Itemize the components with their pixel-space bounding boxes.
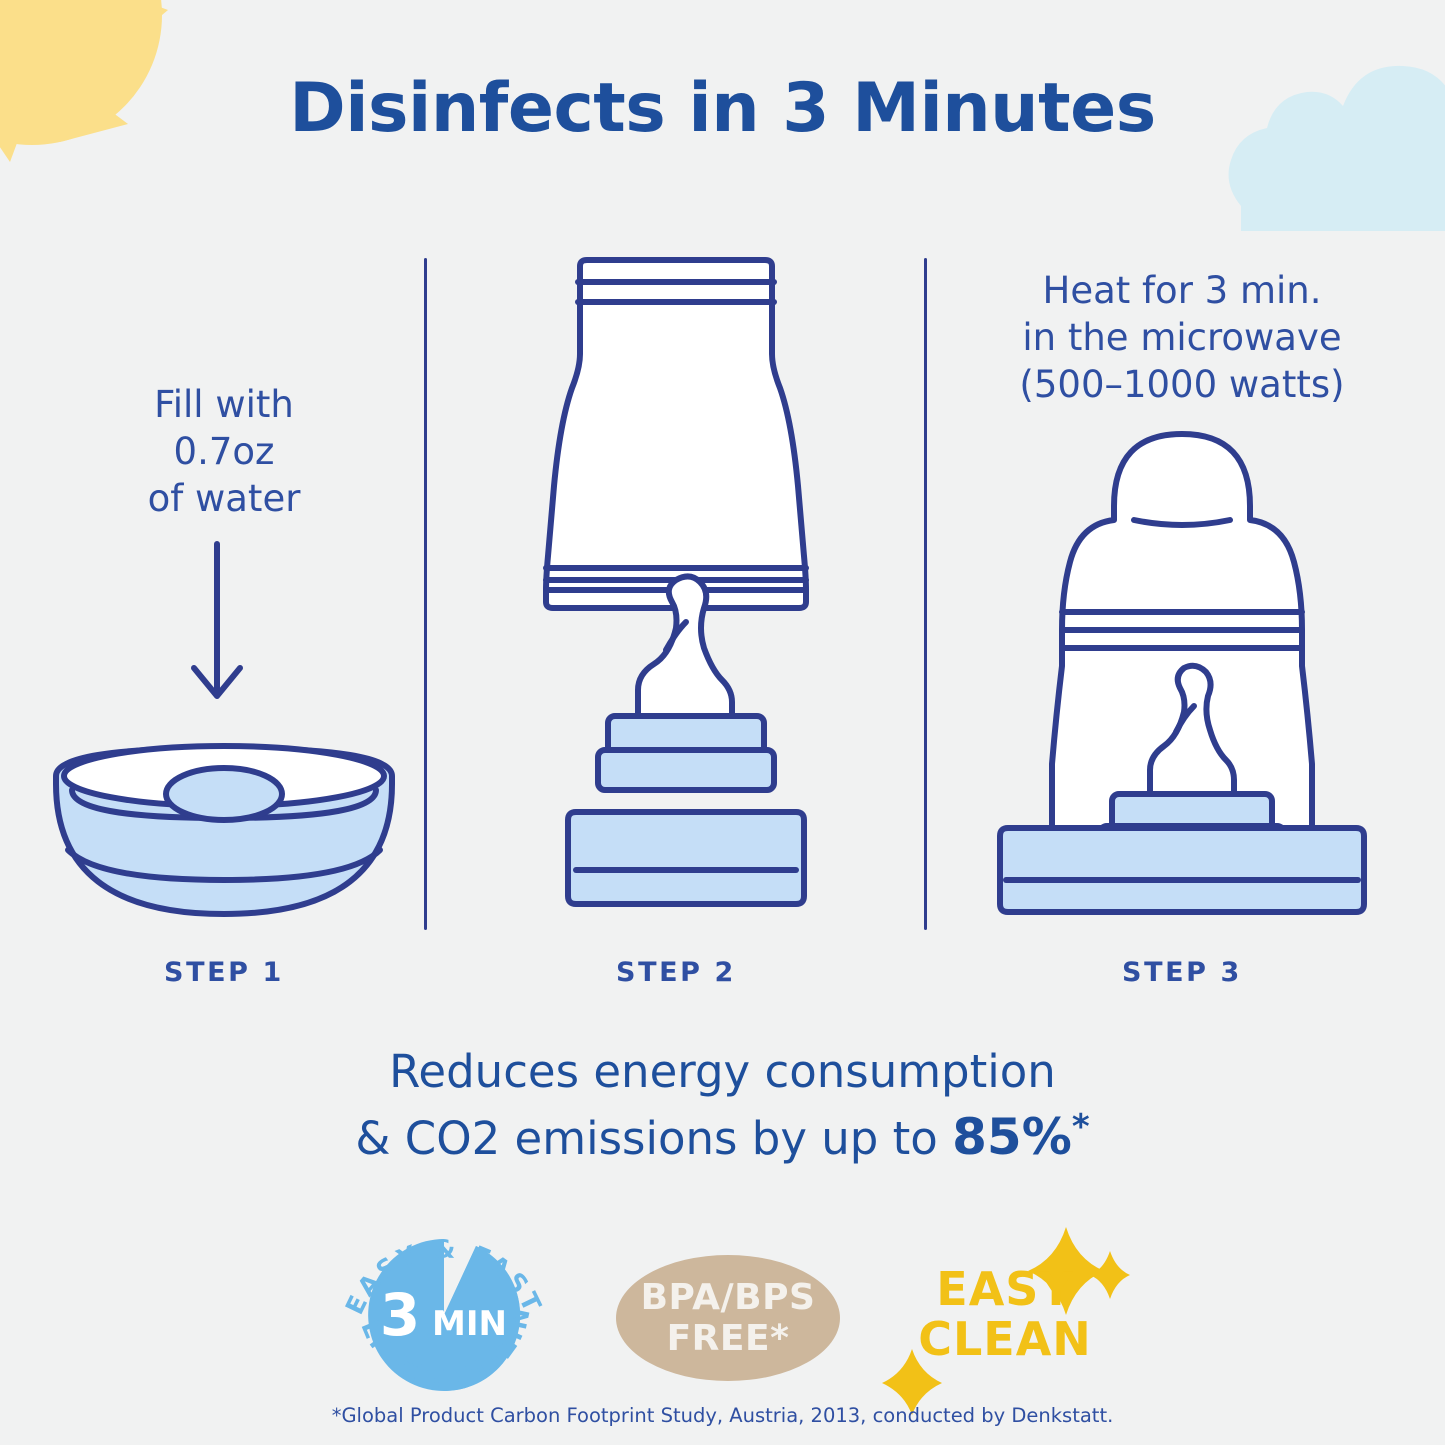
step-1-caption-line-3: of water bbox=[28, 476, 420, 523]
collar-ring-shape bbox=[598, 716, 774, 790]
easy-clean-line-1: EASY bbox=[880, 1265, 1130, 1315]
eco-headline-line-2: & CO2 emissions by up to 85%* bbox=[0, 1104, 1445, 1172]
bpa-label-line-2: FREE* bbox=[667, 1318, 790, 1359]
step-1-caption-line-1: Fill with bbox=[28, 382, 420, 429]
step-3-caption-line-2: in the microwave bbox=[936, 315, 1428, 362]
step-1-caption-line-2: 0.7oz bbox=[28, 429, 420, 476]
bottle-body-shape bbox=[546, 260, 806, 608]
page-title: Disinfects in 3 Minutes bbox=[0, 72, 1445, 147]
outer-base-shape bbox=[1000, 828, 1364, 912]
step-3-caption-line-3: (500–1000 watts) bbox=[936, 362, 1428, 409]
step-2-label: STEP 2 bbox=[432, 957, 920, 988]
bowl-shape bbox=[56, 746, 392, 914]
easy-clean-line-2: CLEAN bbox=[880, 1315, 1130, 1365]
eco-headline-line-1: Reduces energy consumption bbox=[0, 1042, 1445, 1103]
bpa-label-line-1: BPA/BPS bbox=[641, 1277, 816, 1318]
bowl-illustration bbox=[28, 532, 420, 922]
badge-row: · EASY & FAST · SELF STERILIZING 3 MIN B… bbox=[0, 1215, 1445, 1415]
down-arrow-icon bbox=[194, 544, 240, 696]
divider-1 bbox=[424, 258, 427, 930]
seal-minutes-number: 3 bbox=[380, 1281, 420, 1349]
easy-clean-label: EASY CLEAN bbox=[880, 1265, 1130, 1364]
step-1-column: Fill with 0.7oz of water STEP 1 bbox=[28, 250, 420, 950]
bpa-bps-free-badge: BPA/BPS FREE* bbox=[616, 1255, 840, 1381]
divider-2 bbox=[924, 258, 927, 930]
eco-headline-asterisk: * bbox=[1072, 1107, 1090, 1147]
bpa-label: BPA/BPS FREE* bbox=[616, 1255, 840, 1381]
eco-headline-prefix: & CO2 emissions by up to bbox=[355, 1112, 952, 1165]
self-sterilizing-seal-badge: · EASY & FAST · SELF STERILIZING 3 MIN bbox=[336, 1215, 552, 1415]
step-2-column: STEP 2 bbox=[432, 250, 920, 950]
step-1-caption: Fill with 0.7oz of water bbox=[28, 382, 420, 523]
step-3-label: STEP 3 bbox=[936, 957, 1428, 988]
footnote: *Global Product Carbon Footprint Study, … bbox=[0, 1404, 1445, 1427]
seal-minutes-unit: MIN bbox=[432, 1304, 507, 1344]
eco-headline-value: 85% bbox=[952, 1108, 1072, 1166]
step-3-caption-line-1: Heat for 3 min. bbox=[936, 268, 1428, 315]
assembled-bottle-illustration bbox=[936, 416, 1428, 922]
step-3-caption: Heat for 3 min. in the microwave (500–10… bbox=[936, 268, 1428, 409]
base-shape bbox=[568, 812, 804, 904]
bottle-parts-illustration bbox=[432, 250, 920, 910]
step-3-column: Heat for 3 min. in the microwave (500–10… bbox=[936, 250, 1428, 950]
infographic-page: Disinfects in 3 Minutes Fill with 0.7oz … bbox=[0, 0, 1445, 1445]
easy-clean-badge: EASY CLEAN bbox=[880, 1221, 1130, 1417]
step-1-label: STEP 1 bbox=[28, 957, 420, 988]
